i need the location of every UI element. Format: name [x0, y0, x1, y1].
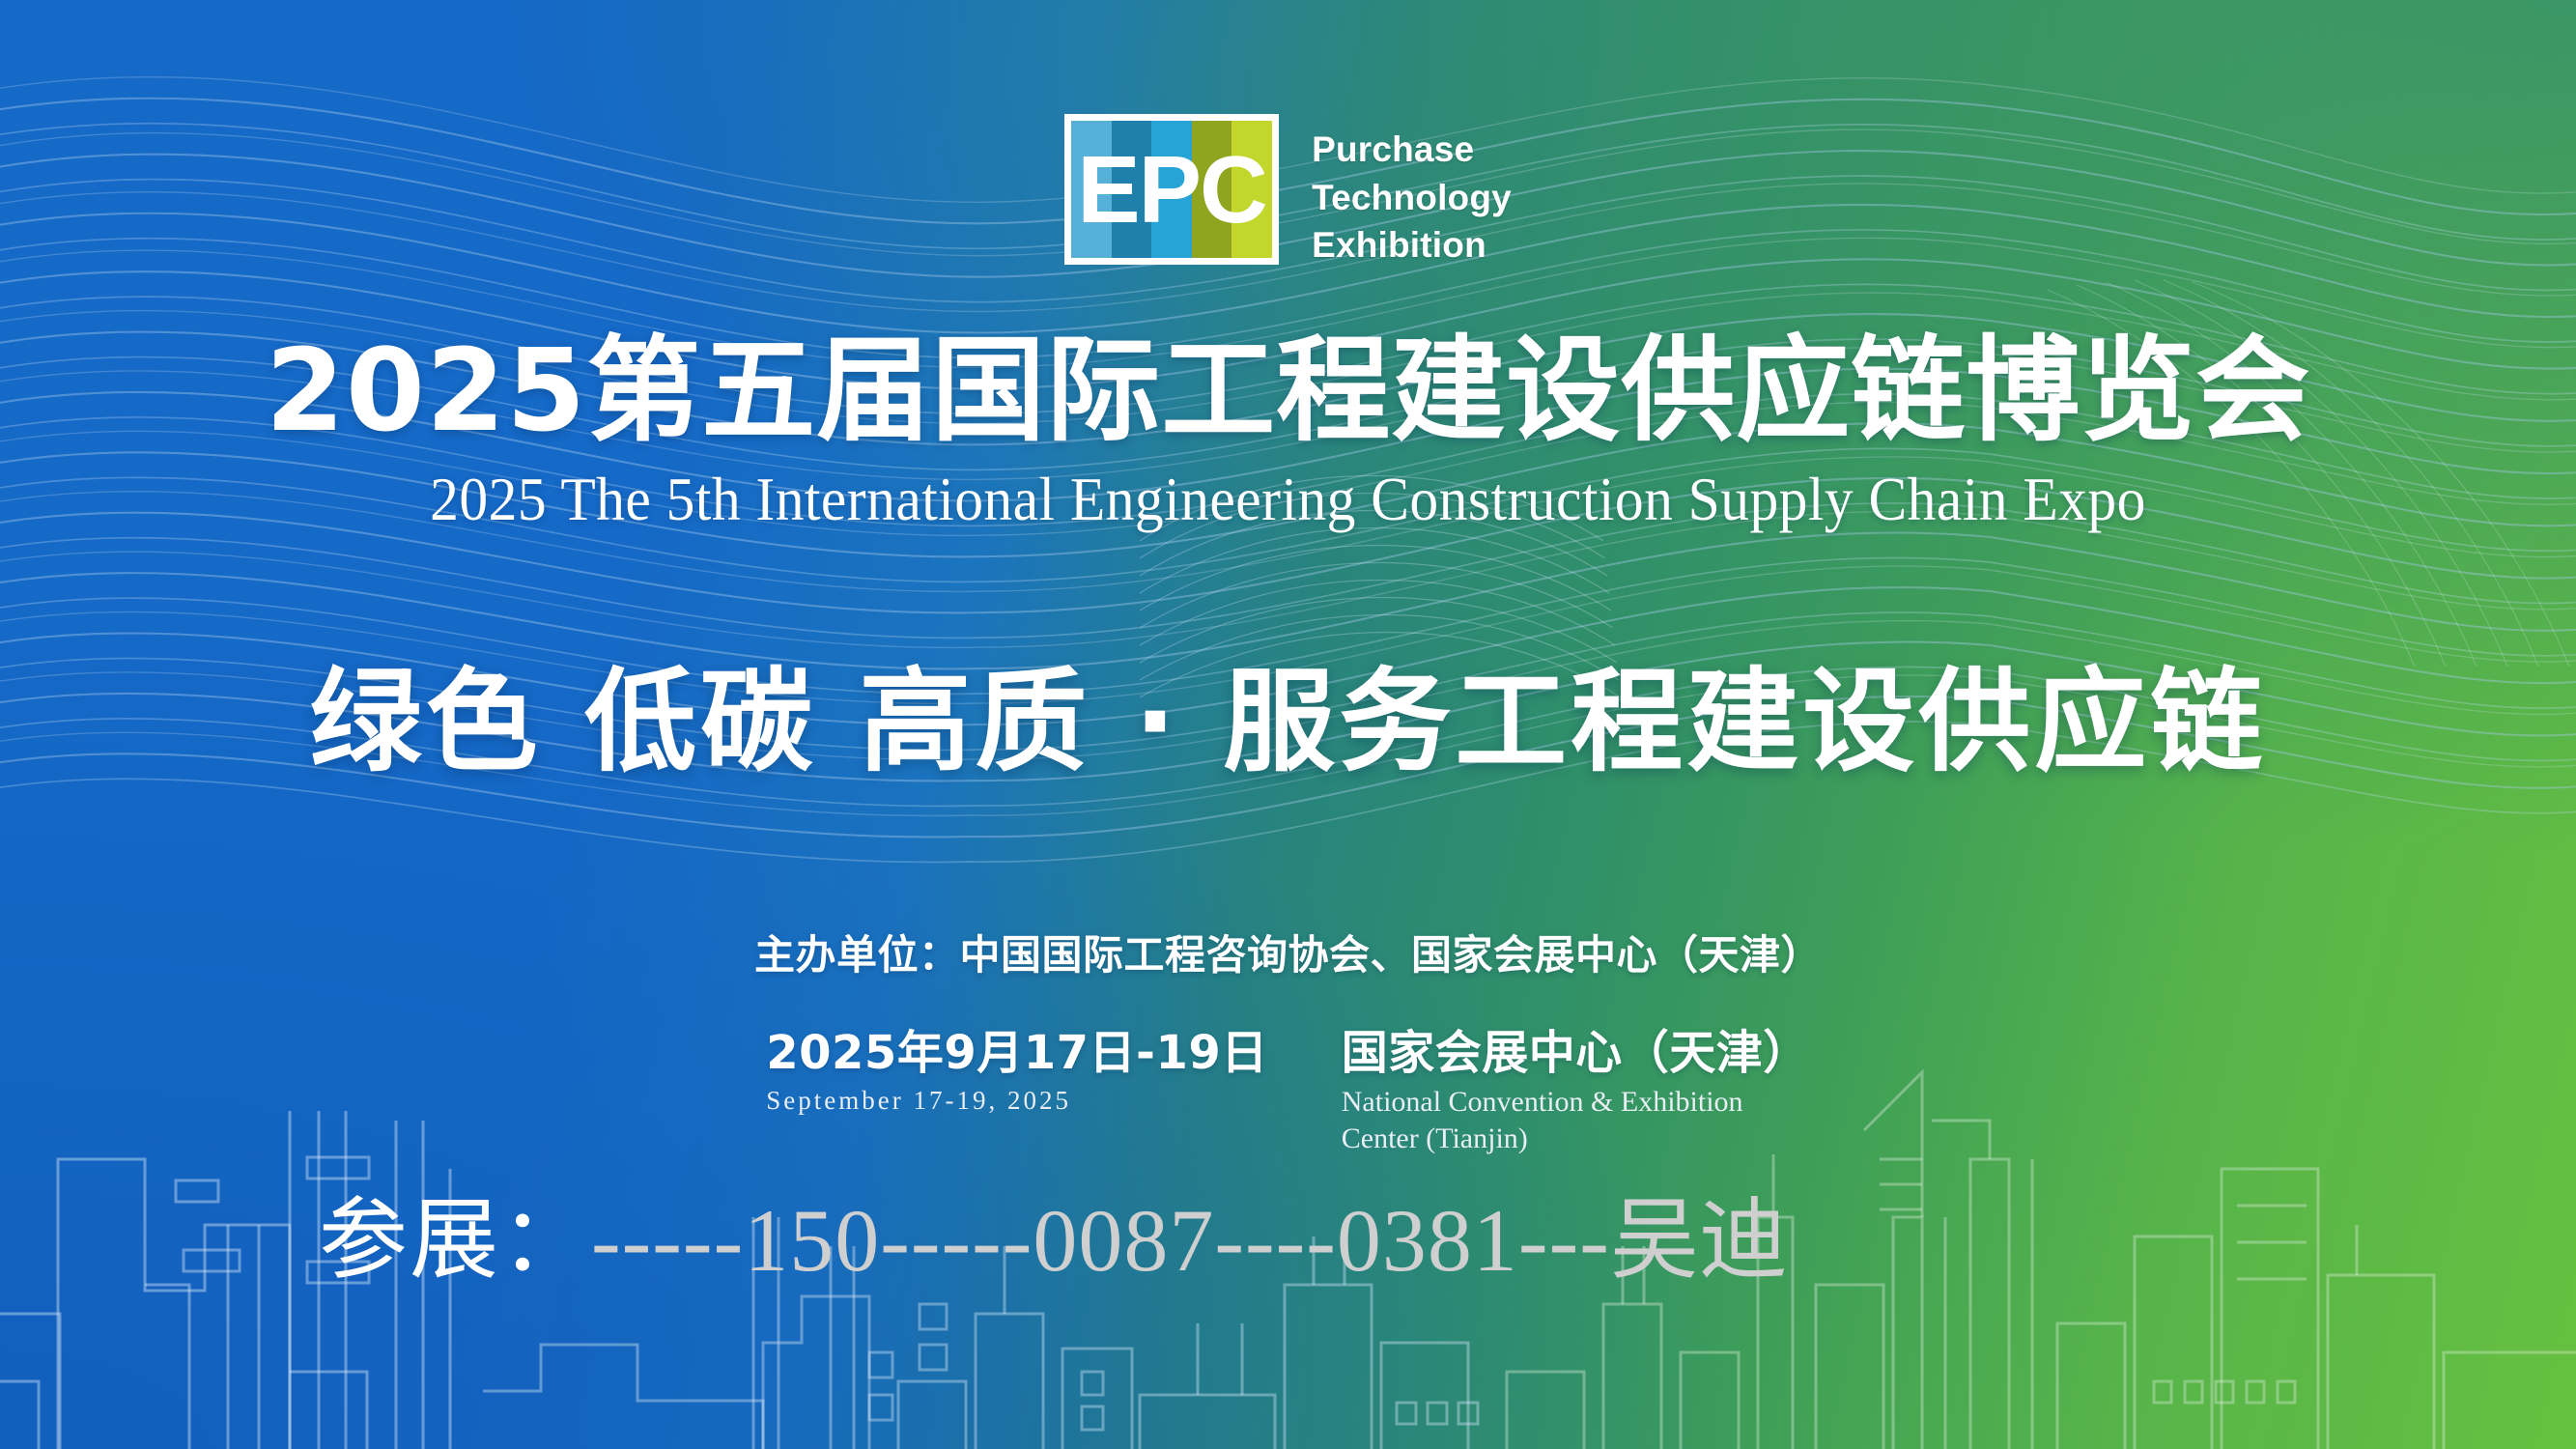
- event-date-block: 2025年9月17日-19日 September 17-19, 2025: [766, 1029, 1268, 1117]
- logo-lockup: EPC Purchase Technology Exhibition: [0, 114, 2576, 270]
- contact-line: 参展：-----150-----0087----0381---吴迪: [319, 1196, 1788, 1285]
- expo-banner: EPC Purchase Technology Exhibition 2025第…: [0, 0, 2576, 1449]
- contact-phone: -----150-----0087----0381---: [591, 1191, 1610, 1290]
- logo-letters: EPC: [1071, 121, 1272, 258]
- logo-wordmark: Purchase Technology Exhibition: [1312, 114, 1512, 270]
- main-title-chinese: 2025第五届国际工程建设供应链博览会: [0, 333, 2576, 447]
- event-venue-chinese: 国家会展中心（天津）: [1342, 1029, 1810, 1079]
- organizer-line: 主办单位：中国国际工程咨询协会、国家会展中心（天津）: [0, 923, 2576, 981]
- event-date-chinese: 2025年9月17日-19日: [766, 1029, 1268, 1079]
- event-info-row: 2025年9月17日-19日 September 17-19, 2025 国家会…: [0, 1029, 2576, 1156]
- event-venue-block: 国家会展中心（天津） National Convention & Exhibit…: [1342, 1029, 1810, 1156]
- main-title-english: 2025 The 5th International Engineering C…: [90, 469, 2485, 530]
- logo-word-technology: Technology: [1312, 174, 1512, 222]
- contact-label: 参展：: [319, 1188, 591, 1292]
- contact-person-name: 吴迪: [1610, 1188, 1788, 1292]
- event-date-english: September 17-19, 2025: [766, 1084, 1268, 1117]
- event-venue-english: National Convention & Exhibition Center …: [1342, 1084, 1805, 1157]
- epc-logo-mark: EPC: [1064, 114, 1279, 265]
- logo-word-purchase: Purchase: [1312, 126, 1512, 174]
- logo-word-exhibition: Exhibition: [1312, 221, 1512, 270]
- slogan-chinese: 绿色 低碳 高质 · 服务工程建设供应链: [0, 667, 2576, 779]
